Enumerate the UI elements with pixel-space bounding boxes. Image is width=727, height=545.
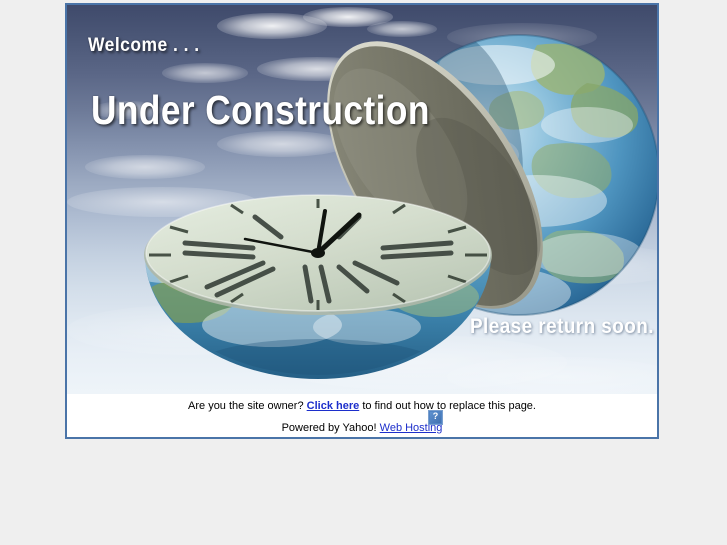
cloud-decoration — [217, 131, 347, 157]
cloud-decoration — [162, 63, 248, 83]
earth-sphere — [355, 27, 657, 319]
site-owner-line: Are you the site owner? Click here to fi… — [67, 394, 657, 413]
clock-numeral-marks — [185, 217, 451, 301]
broken-image-icon-glyph: ? — [429, 410, 442, 423]
cloud-decoration — [217, 13, 327, 39]
broken-image-icon[interactable]: ? — [428, 410, 443, 425]
hero-banner: Welcome . . . Under Construction Please … — [67, 5, 657, 394]
globe-lid — [284, 5, 587, 346]
cloud-decoration — [337, 145, 447, 167]
return-soon-text: Please return soon. — [470, 315, 654, 339]
cloud-decoration — [67, 187, 257, 217]
clock-face — [144, 195, 492, 315]
click-here-link[interactable]: Click here — [307, 400, 360, 412]
clock-ticks — [149, 199, 487, 310]
footer: Are you the site owner? Click here to fi… — [67, 394, 657, 437]
globe-bowl — [129, 245, 491, 391]
cloud-decoration — [303, 7, 393, 27]
cloud-decoration — [447, 23, 597, 51]
welcome-text: Welcome . . . — [88, 35, 200, 57]
owner-suffix-text: to find out how to replace this page. — [362, 400, 536, 412]
powered-prefix-text: Powered by Yahoo! — [282, 422, 377, 434]
cloud-decoration — [497, 245, 657, 285]
cloud-decoration — [377, 67, 472, 87]
cloud-decoration — [85, 155, 205, 179]
owner-prefix-text: Are you the site owner? — [188, 400, 304, 412]
powered-by-line: Powered by Yahoo! Web Hosting ? — [67, 413, 657, 435]
cloud-decoration — [267, 335, 567, 390]
cloud-decoration — [257, 57, 377, 81]
page-content-box: Welcome . . . Under Construction Please … — [65, 3, 659, 439]
clock-hands — [245, 211, 359, 258]
page-title: Under Construction — [91, 87, 430, 134]
cloud-decoration — [367, 21, 437, 37]
cloud-decoration — [447, 357, 657, 394]
cloud-decoration — [67, 305, 307, 355]
